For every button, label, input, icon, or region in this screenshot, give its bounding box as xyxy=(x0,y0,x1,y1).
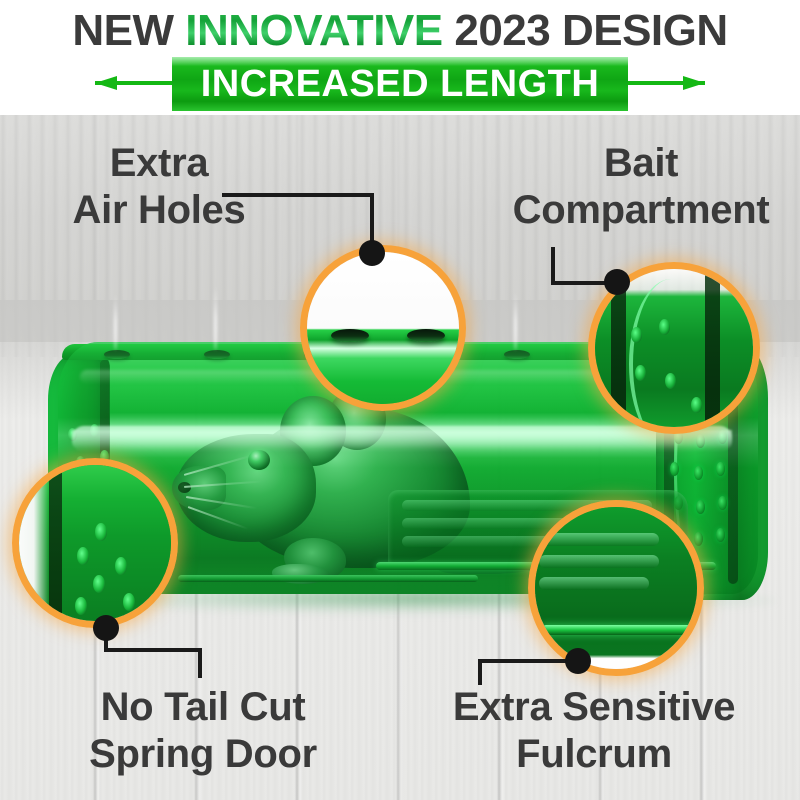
callout-air-holes-line2: Air Holes xyxy=(24,187,294,234)
magnifier-circle-air-holes xyxy=(300,245,466,411)
callout-label-fulcrum: Extra Sensitive Fulcrum xyxy=(404,684,784,778)
magnifier-circle-fulcrum xyxy=(528,500,704,676)
headline-highlight: INNOVATIVE xyxy=(185,6,442,55)
trap-body-highlight xyxy=(72,426,732,452)
callout-label-bait-compartment: Bait Compartment xyxy=(486,140,796,234)
magnifier-circle-spring-door xyxy=(12,458,178,628)
page-title: NEW INNOVATIVE 2023 DESIGN xyxy=(0,6,800,56)
callout-fulcrum-line2: Fulcrum xyxy=(404,731,784,778)
leader-dot-fulcrum xyxy=(565,648,591,674)
leader-line-door-vertical-lower xyxy=(198,648,202,678)
headline-prefix: NEW xyxy=(72,6,185,55)
callout-bait-line1: Bait xyxy=(486,140,796,187)
mouse-eye xyxy=(248,450,270,470)
leader-line-door-horizontal xyxy=(104,648,202,652)
leader-line-fulcrum-vertical xyxy=(478,659,482,685)
arrow-right-icon xyxy=(615,76,705,90)
infographic-page: NEW INNOVATIVE 2023 DESIGN INCREASED LEN… xyxy=(0,0,800,800)
headline-suffix: 2023 DESIGN xyxy=(443,6,728,55)
callout-label-air-holes: Extra Air Holes xyxy=(24,140,294,234)
leader-dot-door xyxy=(93,615,119,641)
callout-label-spring-door: No Tail Cut Spring Door xyxy=(48,684,358,778)
callout-air-holes-line1: Extra xyxy=(24,140,294,187)
callout-door-line2: Spring Door xyxy=(48,731,358,778)
leader-dot-air-holes xyxy=(359,240,385,266)
banner-label: INCREASED LENGTH xyxy=(201,64,600,104)
callout-bait-line2: Compartment xyxy=(486,187,796,234)
leader-line-bait-vertical xyxy=(551,247,555,285)
leader-dot-bait xyxy=(604,269,630,295)
callout-fulcrum-line1: Extra Sensitive xyxy=(404,684,784,731)
increased-length-banner: INCREASED LENGTH xyxy=(172,57,628,111)
trap-base-rail xyxy=(178,575,478,582)
callout-door-line1: No Tail Cut xyxy=(48,684,358,731)
